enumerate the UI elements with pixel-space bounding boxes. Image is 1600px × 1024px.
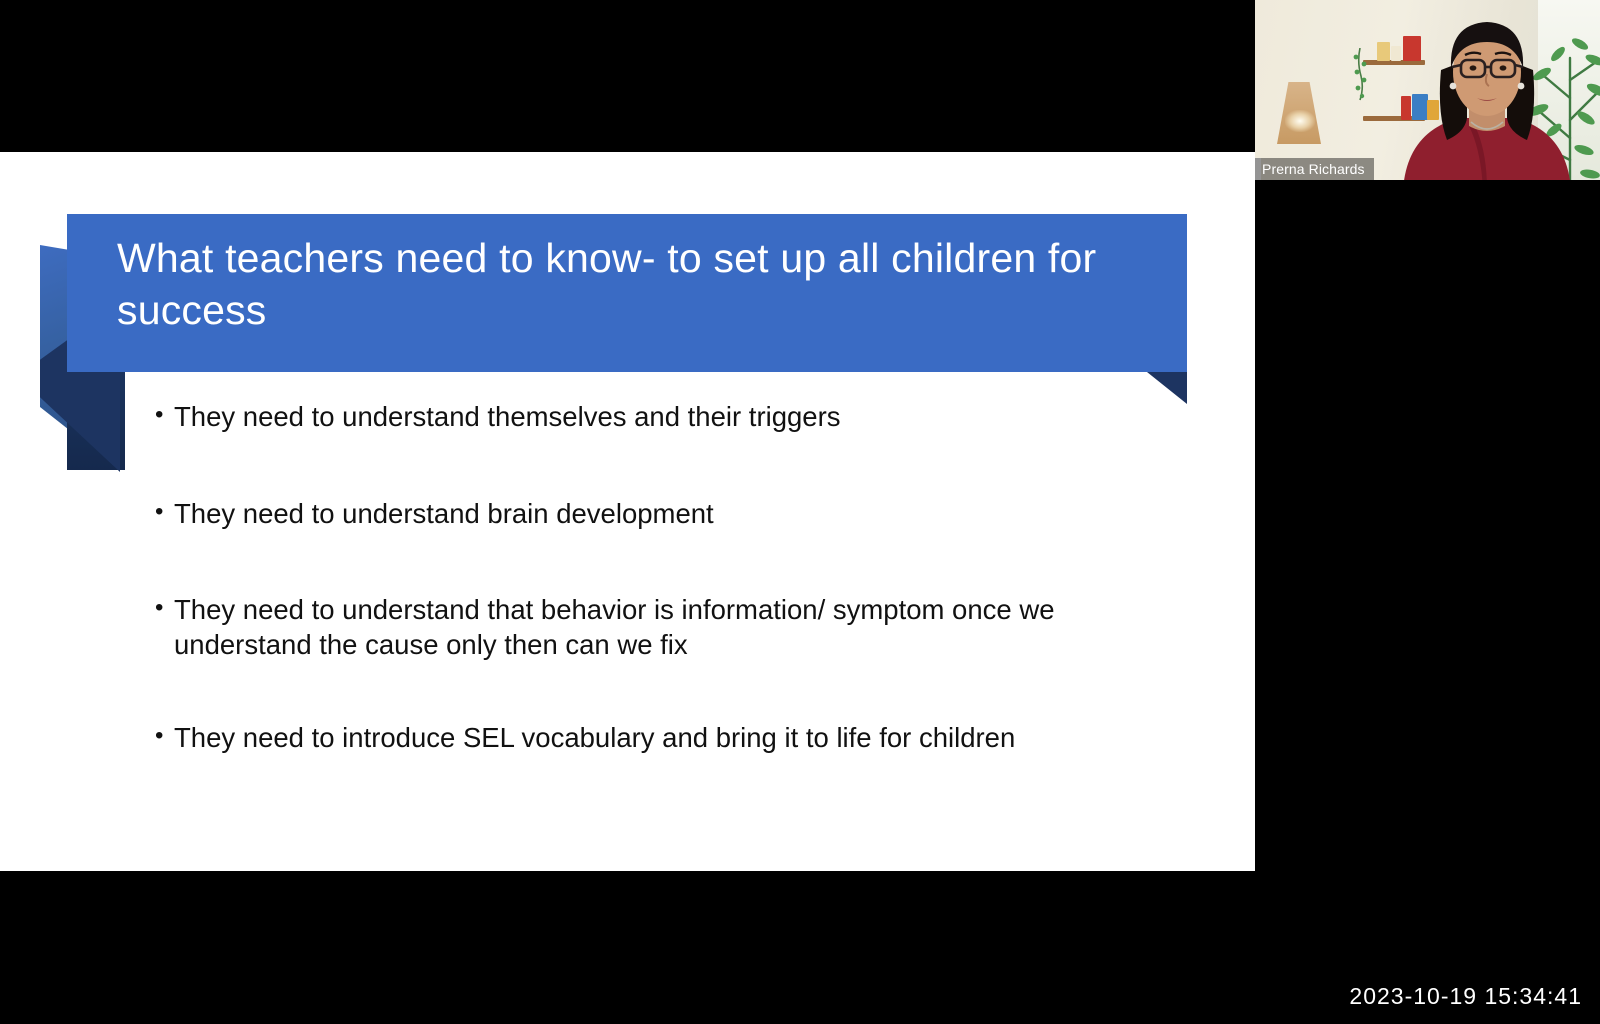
slide-title-text: What teachers need to know- to set up al… bbox=[117, 232, 1157, 337]
lamp-glow bbox=[1285, 110, 1315, 132]
recording-frame: What teachers need to know- to set up al… bbox=[0, 0, 1600, 1024]
webcam-video-tile[interactable]: Prerna Richards bbox=[1255, 0, 1600, 180]
bullet-item-4: They need to introduce SEL vocabulary an… bbox=[155, 721, 1185, 756]
participant-portrait bbox=[1387, 10, 1587, 180]
bullet-item-2: They need to understand brain developmen… bbox=[155, 497, 1185, 532]
bullet-item-1: They need to understand themselves and t… bbox=[155, 400, 1185, 435]
participant-name-label: Prerna Richards bbox=[1255, 158, 1374, 180]
hanging-vine-icon bbox=[1351, 48, 1369, 102]
presentation-slide: What teachers need to know- to set up al… bbox=[0, 152, 1255, 871]
recording-timestamp: 2023-10-19 15:34:41 bbox=[1349, 983, 1582, 1010]
slide-bullet-list: They need to understand themselves and t… bbox=[155, 400, 1185, 755]
bullet-item-3: They need to understand that behavior is… bbox=[155, 593, 1185, 662]
